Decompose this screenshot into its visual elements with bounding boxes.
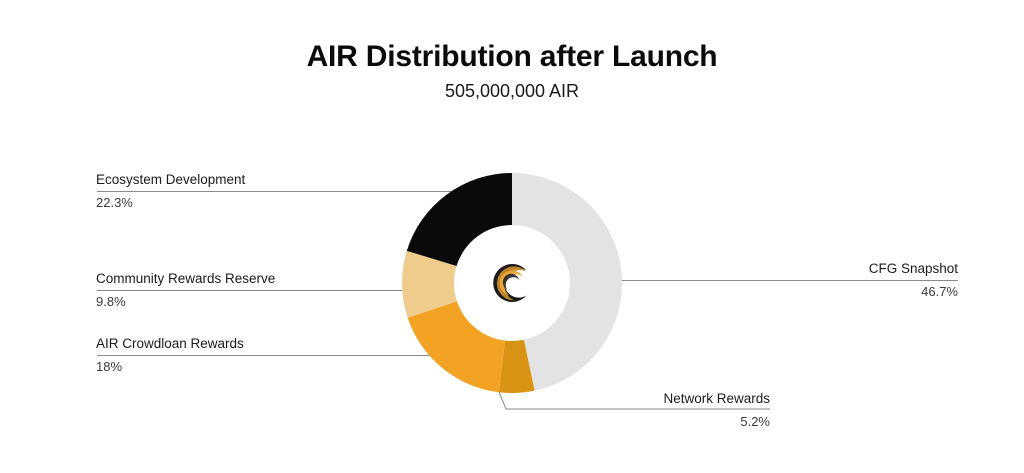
callout-label-ecosystem-development: Ecosystem Development bbox=[96, 172, 245, 188]
chart-subtitle: 505,000,000 AIR bbox=[0, 82, 1024, 102]
callout-network-rewards: Network Rewards 5.2% bbox=[663, 391, 770, 429]
callout-value-air-crowdloan-rewards: 18% bbox=[96, 360, 244, 375]
callout-label-air-crowdloan-rewards: AIR Crowdloan Rewards bbox=[96, 336, 244, 352]
callout-value-network-rewards: 5.2% bbox=[663, 415, 770, 430]
callout-value-cfg-snapshot: 46.7% bbox=[869, 285, 958, 300]
slice-air-crowdloan-rewards bbox=[408, 301, 505, 392]
callout-community-rewards-reserve: Community Rewards Reserve 9.8% bbox=[96, 271, 275, 309]
donut-chart-figure: AIR Distribution after Launch 505,000,00… bbox=[0, 0, 1024, 473]
centrifuge-logo-icon bbox=[486, 257, 538, 309]
callout-label-cfg-snapshot: CFG Snapshot bbox=[869, 261, 958, 277]
callout-label-network-rewards: Network Rewards bbox=[663, 391, 770, 407]
chart-header: AIR Distribution after Launch 505,000,00… bbox=[0, 40, 1024, 102]
centrifuge-logo-glyph bbox=[486, 257, 538, 309]
chart-title: AIR Distribution after Launch bbox=[0, 40, 1024, 73]
callout-air-crowdloan-rewards: AIR Crowdloan Rewards 18% bbox=[96, 336, 244, 374]
callout-label-community-rewards-reserve: Community Rewards Reserve bbox=[96, 271, 275, 287]
callout-ecosystem-development: Ecosystem Development 22.3% bbox=[96, 172, 245, 210]
callout-cfg-snapshot: CFG Snapshot 46.7% bbox=[869, 261, 958, 299]
callout-value-ecosystem-development: 22.3% bbox=[96, 196, 245, 211]
slice-ecosystem-development bbox=[407, 173, 512, 266]
callout-value-community-rewards-reserve: 9.8% bbox=[96, 295, 275, 310]
